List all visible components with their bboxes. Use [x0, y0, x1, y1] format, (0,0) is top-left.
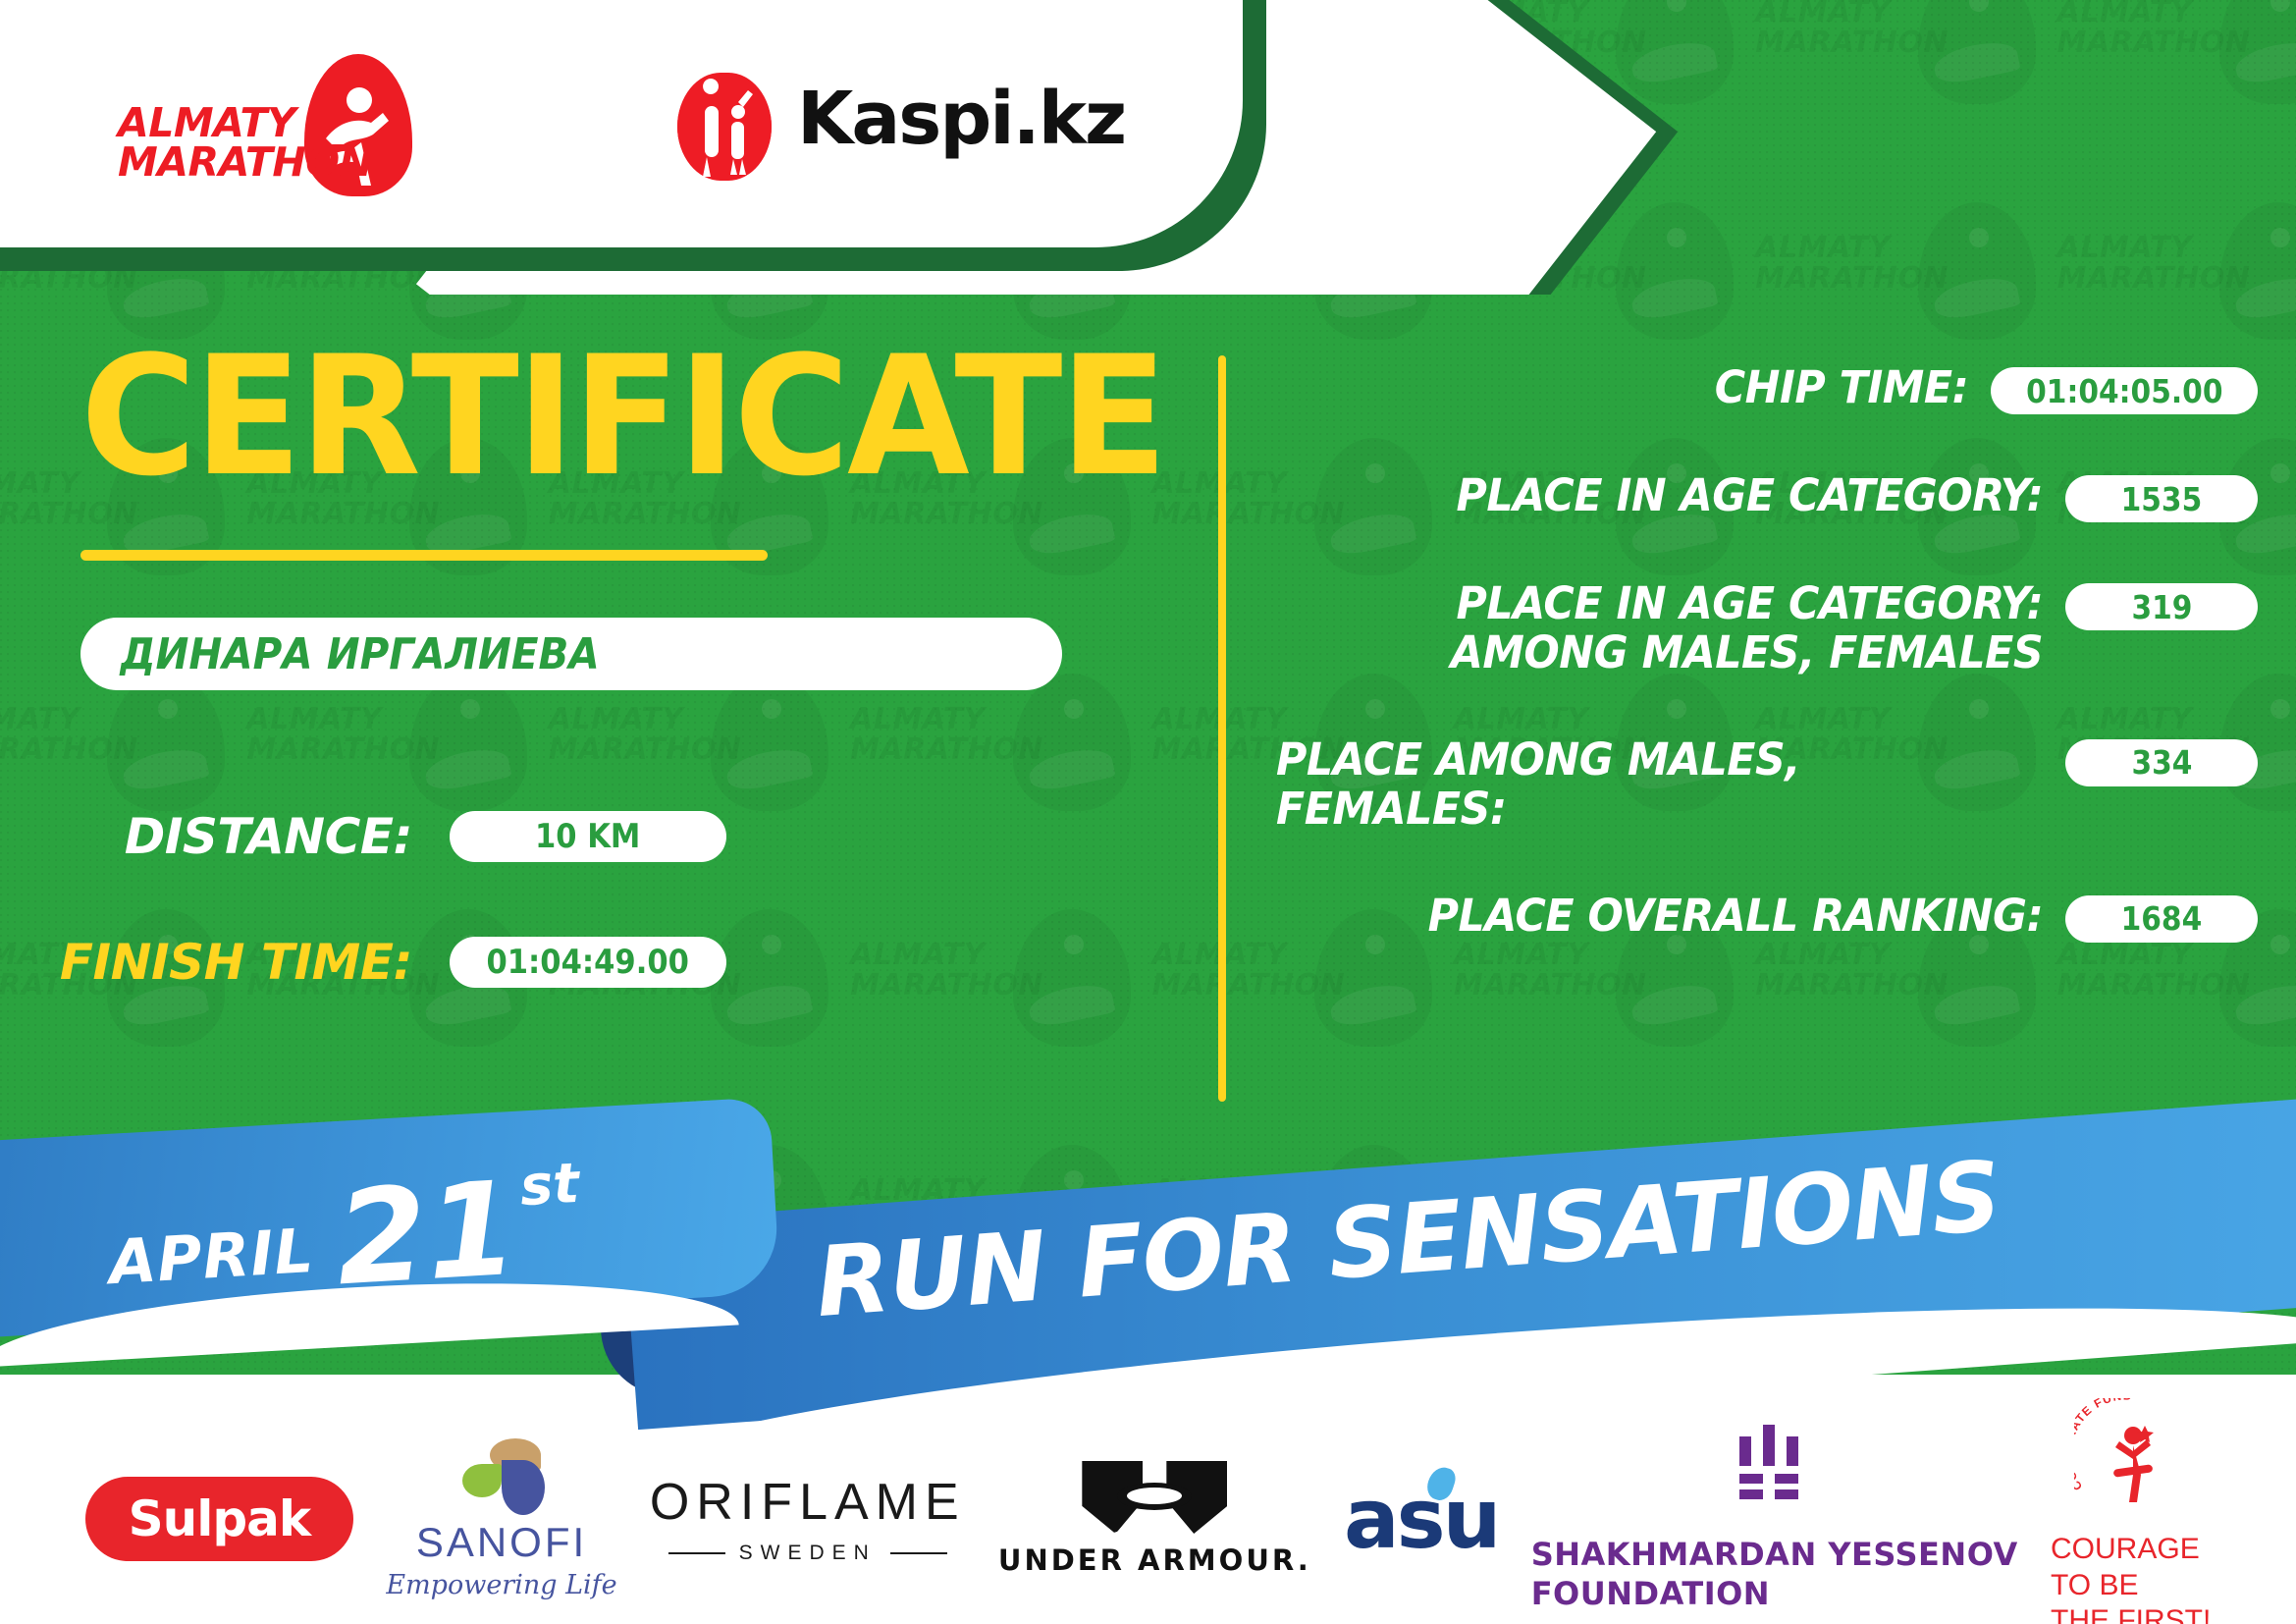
oriflame-rule-left [668, 1552, 725, 1554]
event-day-ordinal: st [518, 1157, 580, 1215]
event-month: APRIL [107, 1215, 316, 1298]
yessenov-icon [1739, 1425, 1810, 1507]
stat-row-place-gender: PLACE AMONG MALES, FEMALES: 334 [1276, 735, 2258, 835]
logo-line-almaty: ALMATY [118, 103, 314, 142]
place-gender-label-line2: FEMALES: [1276, 785, 2003, 834]
courage-line1: COURAGE [2051, 1532, 2211, 1568]
place-gender-value: 334 [2131, 743, 2192, 782]
left-column: CERTIFICATE ДИНАРА ИРГАЛИЕВА DISTANCE: 1… [59, 334, 1188, 991]
sponsor-sanofi: SANOFI Empowering Life [386, 1438, 616, 1600]
sanofi-wordmark: SANOFI [416, 1519, 587, 1566]
almaty-marathon-logo: ALMATY MARATHON [118, 54, 442, 201]
chip-time-value: 01:04:05.00 [2026, 372, 2222, 410]
place-age-gender-label-line1: PLACE IN AGE CATEGORY: [1315, 579, 2043, 628]
event-date: APRIL 21 st [105, 1157, 585, 1312]
oriflame-subline: SWEDEN [668, 1542, 947, 1565]
sanofi-tagline: Empowering Life [386, 1570, 616, 1600]
sanofi-icon [454, 1438, 549, 1513]
distance-value: 10 KM [535, 817, 640, 856]
participant-name-field: ДИНАРА ИРГАЛИЕВА [80, 618, 1062, 690]
place-overall-value-pill: 1684 [2065, 895, 2258, 943]
kaspi-logo: Kaspi.kz [677, 61, 1099, 189]
yessenov-line2: FOUNDATION [1531, 1574, 2018, 1613]
sponsor-under-armour: UNDER ARMOUR. [998, 1461, 1311, 1577]
courage-fund-wordmark: COURAGE TO BE THE FIRST! [2051, 1532, 2211, 1624]
sponsor-asu: asu [1344, 1471, 1498, 1567]
kaspi-wordmark: Kaspi.kz [797, 77, 1125, 161]
vertical-divider [1218, 355, 1226, 1102]
place-age-gender-value-pill: 319 [2065, 583, 2258, 630]
oriflame-country: SWEDEN [739, 1542, 877, 1565]
place-overall-value: 1684 [2121, 899, 2203, 938]
place-overall-label: PLACE OVERALL RANKING: [1315, 892, 2065, 941]
chip-time-label: CHIP TIME: [1311, 363, 1991, 412]
finish-time-row: FINISH TIME: 01:04:49.00 [59, 934, 1188, 991]
finish-time-value: 01:04:49.00 [487, 943, 689, 982]
stats-column: CHIP TIME: 01:04:05.00 PLACE IN AGE CATE… [1276, 363, 2258, 1000]
distance-value-pill: 10 KM [450, 811, 726, 862]
stat-row-chip-time: CHIP TIME: 01:04:05.00 [1276, 363, 2258, 414]
kaspi-people-icon [677, 73, 772, 181]
asu-text: asu [1344, 1471, 1498, 1567]
sponsor-oriflame: ORIFLAME SWEDEN [650, 1473, 966, 1565]
place-age-gender-label: PLACE IN AGE CATEGORY: AMONG MALES, FEMA… [1315, 579, 2065, 678]
place-age-gender-value: 319 [2131, 588, 2192, 626]
logo-line-marathon: MARATHON [118, 142, 314, 182]
place-age-value-pill: 1535 [2065, 475, 2258, 522]
under-armour-icon [1082, 1461, 1227, 1534]
courage-line2: TO BE [2051, 1568, 2211, 1604]
chip-time-value-pill: 01:04:05.00 [1991, 367, 2258, 414]
oriflame-rule-right [890, 1552, 947, 1554]
under-armour-wordmark: UNDER ARMOUR. [998, 1543, 1311, 1577]
courage-line3: THE FIRST! [2051, 1603, 2211, 1624]
oriflame-wordmark: ORIFLAME [650, 1473, 966, 1532]
courage-runner-icon [2111, 1422, 2155, 1502]
header-logos: ALMATY MARATHON Kaspi.kz [0, 0, 1178, 285]
title-underline [80, 550, 768, 561]
sulpak-wordmark: Sulpak [129, 1490, 311, 1547]
sponsor-bar: Sulpak SANOFI Empowering Life ORIFLAME S… [0, 1414, 2296, 1624]
sponsor-yessenov-foundation: SHAKHMARDAN YESSENOV FOUNDATION [1531, 1425, 2018, 1613]
yessenov-line1: SHAKHMARDAN YESSENOV [1531, 1535, 2018, 1574]
yessenov-wordmark: SHAKHMARDAN YESSENOV FOUNDATION [1531, 1535, 2018, 1613]
distance-label: DISTANCE: [59, 808, 412, 865]
finish-time-value-pill: 01:04:49.00 [450, 937, 726, 988]
event-day: 21 [334, 1171, 520, 1298]
stat-row-place-age-gender: PLACE IN AGE CATEGORY: AMONG MALES, FEMA… [1276, 579, 2258, 678]
place-age-gender-label-line2: AMONG MALES, FEMALES [1315, 628, 2043, 677]
place-age-value: 1535 [2121, 480, 2203, 518]
place-gender-label-line1: PLACE AMONG MALES, [1276, 735, 2003, 785]
certificate-page: ALMATY MARATHONALMATY MARATHONALMATY MAR… [0, 0, 2296, 1624]
finish-time-label: FINISH TIME: [59, 934, 412, 991]
stat-row-place-overall: PLACE OVERALL RANKING: 1684 [1276, 892, 2258, 943]
almaty-marathon-wordmark: ALMATY MARATHON [118, 103, 314, 182]
place-gender-label: PLACE AMONG MALES, FEMALES: [1276, 735, 2026, 835]
stat-row-place-age: PLACE IN AGE CATEGORY: 1535 [1276, 471, 2258, 522]
distance-row: DISTANCE: 10 KM [59, 808, 1188, 865]
place-gender-value-pill: 334 [2065, 739, 2258, 786]
page-title: CERTIFICATE [80, 334, 1144, 499]
asu-wordmark: asu [1344, 1471, 1498, 1567]
kaspi-mark-icon [677, 73, 772, 181]
participant-name: ДИНАРА ИРГАЛИЕВА [80, 629, 600, 679]
place-age-label: PLACE IN AGE CATEGORY: [1315, 471, 2065, 520]
sponsor-sulpak: Sulpak [85, 1477, 354, 1561]
sponsor-courage-fund: CORPORATE FUND COURAGE TO BE THE FIRST! [2051, 1398, 2211, 1624]
